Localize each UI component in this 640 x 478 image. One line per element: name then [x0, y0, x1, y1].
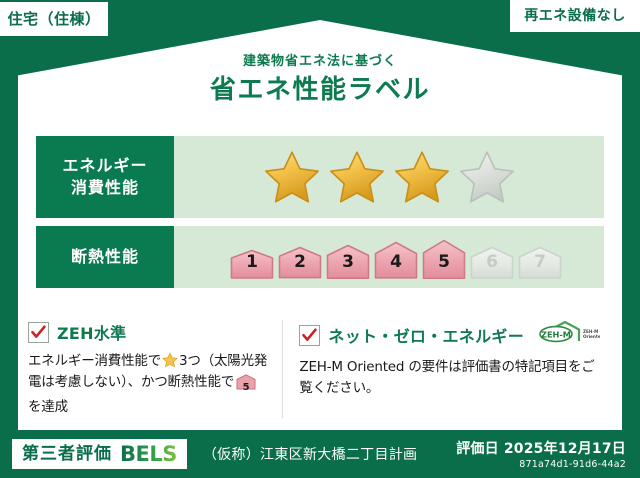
insulation-key-label: 断熱性能	[71, 246, 139, 268]
net-zero-head: ネット・ゼロ・エネルギー ZEH-M ZEH-M Oriented	[299, 320, 600, 350]
insulation-badge-number: 1	[229, 252, 275, 272]
insulation-badge-active: 2	[277, 235, 323, 279]
zeh-standard-note: ZEH水準 エネルギー消費性能で3つ（太陽光発電は考慮しない）、かつ断熱性能で5…	[28, 320, 282, 418]
insulation-badge-active: 3	[325, 235, 371, 279]
insulation-badge-active: 5	[421, 235, 467, 279]
building-name: （仮称）江東区新大橋二丁目計画	[203, 444, 418, 464]
insulation-performance-row: 断熱性能 1234567	[36, 226, 604, 288]
insulation-badge-active: 4	[373, 235, 419, 279]
insulation-badge-number: 7	[517, 252, 563, 272]
label-title: 省エネ性能ラベル	[18, 74, 622, 107]
check-icon	[30, 324, 47, 341]
zeh-m-logo-sub2: Oriented	[583, 334, 600, 339]
energy-performance-row: エネルギー 消費性能	[36, 136, 604, 218]
label-subtitle: 建築物省エネ法に基づく	[18, 54, 622, 70]
zeh-standard-checkbox[interactable]	[28, 322, 49, 343]
zeh-body-part1: エネルギー消費性能で	[28, 353, 161, 369]
energy-key-line2: 消費性能	[71, 177, 139, 199]
star-icon-empty	[458, 149, 516, 205]
zeh-body-part3: を達成	[28, 399, 68, 415]
net-zero-energy-note: ネット・ゼロ・エネルギー ZEH-M ZEH-M Oriented ZEH-M …	[282, 320, 612, 418]
zeh-standard-title: ZEH水準	[57, 320, 126, 344]
inline-star-icon	[162, 352, 178, 368]
bels-certification-badge: 第三者評価 BELS	[12, 439, 187, 469]
renewable-badge: 再エネ設備なし	[510, 0, 640, 32]
renewable-badge-label: 再エネ設備なし	[524, 9, 626, 23]
energy-performance-label: 住宅（住棟） 再エネ設備なし 建築物省エネ法に基づく 省エネ性能ラベル エネルギ…	[0, 0, 640, 478]
check-icon	[301, 327, 318, 344]
net-zero-checkbox[interactable]	[299, 325, 320, 346]
insulation-badge-number: 5	[421, 252, 467, 272]
evaluation-date: 評価日 2025年12月17日	[456, 438, 626, 458]
insulation-badge-number: 6	[469, 252, 515, 272]
zeh-standard-body: エネルギー消費性能で3つ（太陽光発電は考慮しない）、かつ断熱性能で5を達成	[28, 351, 270, 418]
insulation-badge-inactive: 6	[469, 235, 515, 279]
inline-house-badge: 5	[236, 374, 256, 397]
category-badge: 住宅（住棟）	[0, 2, 108, 36]
star-icon-filled	[393, 149, 451, 205]
star-icon-filled	[263, 149, 321, 205]
label-title-block: 建築物省エネ法に基づく 省エネ性能ラベル	[18, 54, 622, 106]
inline-house-number: 5	[236, 380, 256, 396]
star-icon-filled	[328, 149, 386, 205]
net-zero-body: ZEH-M Oriented の要件は評価書の特記項目をご覧ください。	[299, 357, 600, 399]
insulation-badge-number: 3	[325, 252, 371, 272]
zeh-m-logo-icon: ZEH-M ZEH-M Oriented	[538, 320, 600, 346]
zeh-m-logo: ZEH-M ZEH-M Oriented	[538, 320, 600, 350]
insulation-performance-key: 断熱性能	[36, 226, 174, 288]
insulation-badge-number: 2	[277, 252, 323, 272]
insulation-level-badges: 1234567	[174, 226, 604, 288]
category-badge-label: 住宅（住棟）	[7, 12, 100, 27]
insulation-badge-active: 1	[229, 235, 275, 279]
energy-key-line1: エネルギー	[62, 155, 147, 177]
insulation-badge-number: 4	[373, 252, 419, 272]
energy-star-rating	[174, 136, 604, 218]
zeh-m-logo-text: ZEH-M	[541, 329, 571, 339]
evaluation-id: 871a74d1-91d6-44a2	[456, 459, 626, 470]
net-zero-title: ネット・ゼロ・エネルギー	[328, 323, 524, 347]
bels-jp-label: 第三者評価	[22, 446, 112, 463]
performance-rows: エネルギー 消費性能 断熱性能 1234567	[36, 136, 604, 296]
evaluation-info: 評価日 2025年12月17日 871a74d1-91d6-44a2	[456, 438, 626, 470]
energy-performance-key: エネルギー 消費性能	[36, 136, 174, 218]
zeh-standard-head: ZEH水準	[28, 320, 270, 344]
notes-section: ZEH水準 エネルギー消費性能で3つ（太陽光発電は考慮しない）、かつ断熱性能で5…	[28, 320, 612, 418]
bels-en-label: BELS	[120, 444, 177, 465]
insulation-badge-inactive: 7	[517, 235, 563, 279]
label-footer: 第三者評価 BELS （仮称）江東区新大橋二丁目計画 評価日 2025年12月1…	[0, 430, 640, 478]
